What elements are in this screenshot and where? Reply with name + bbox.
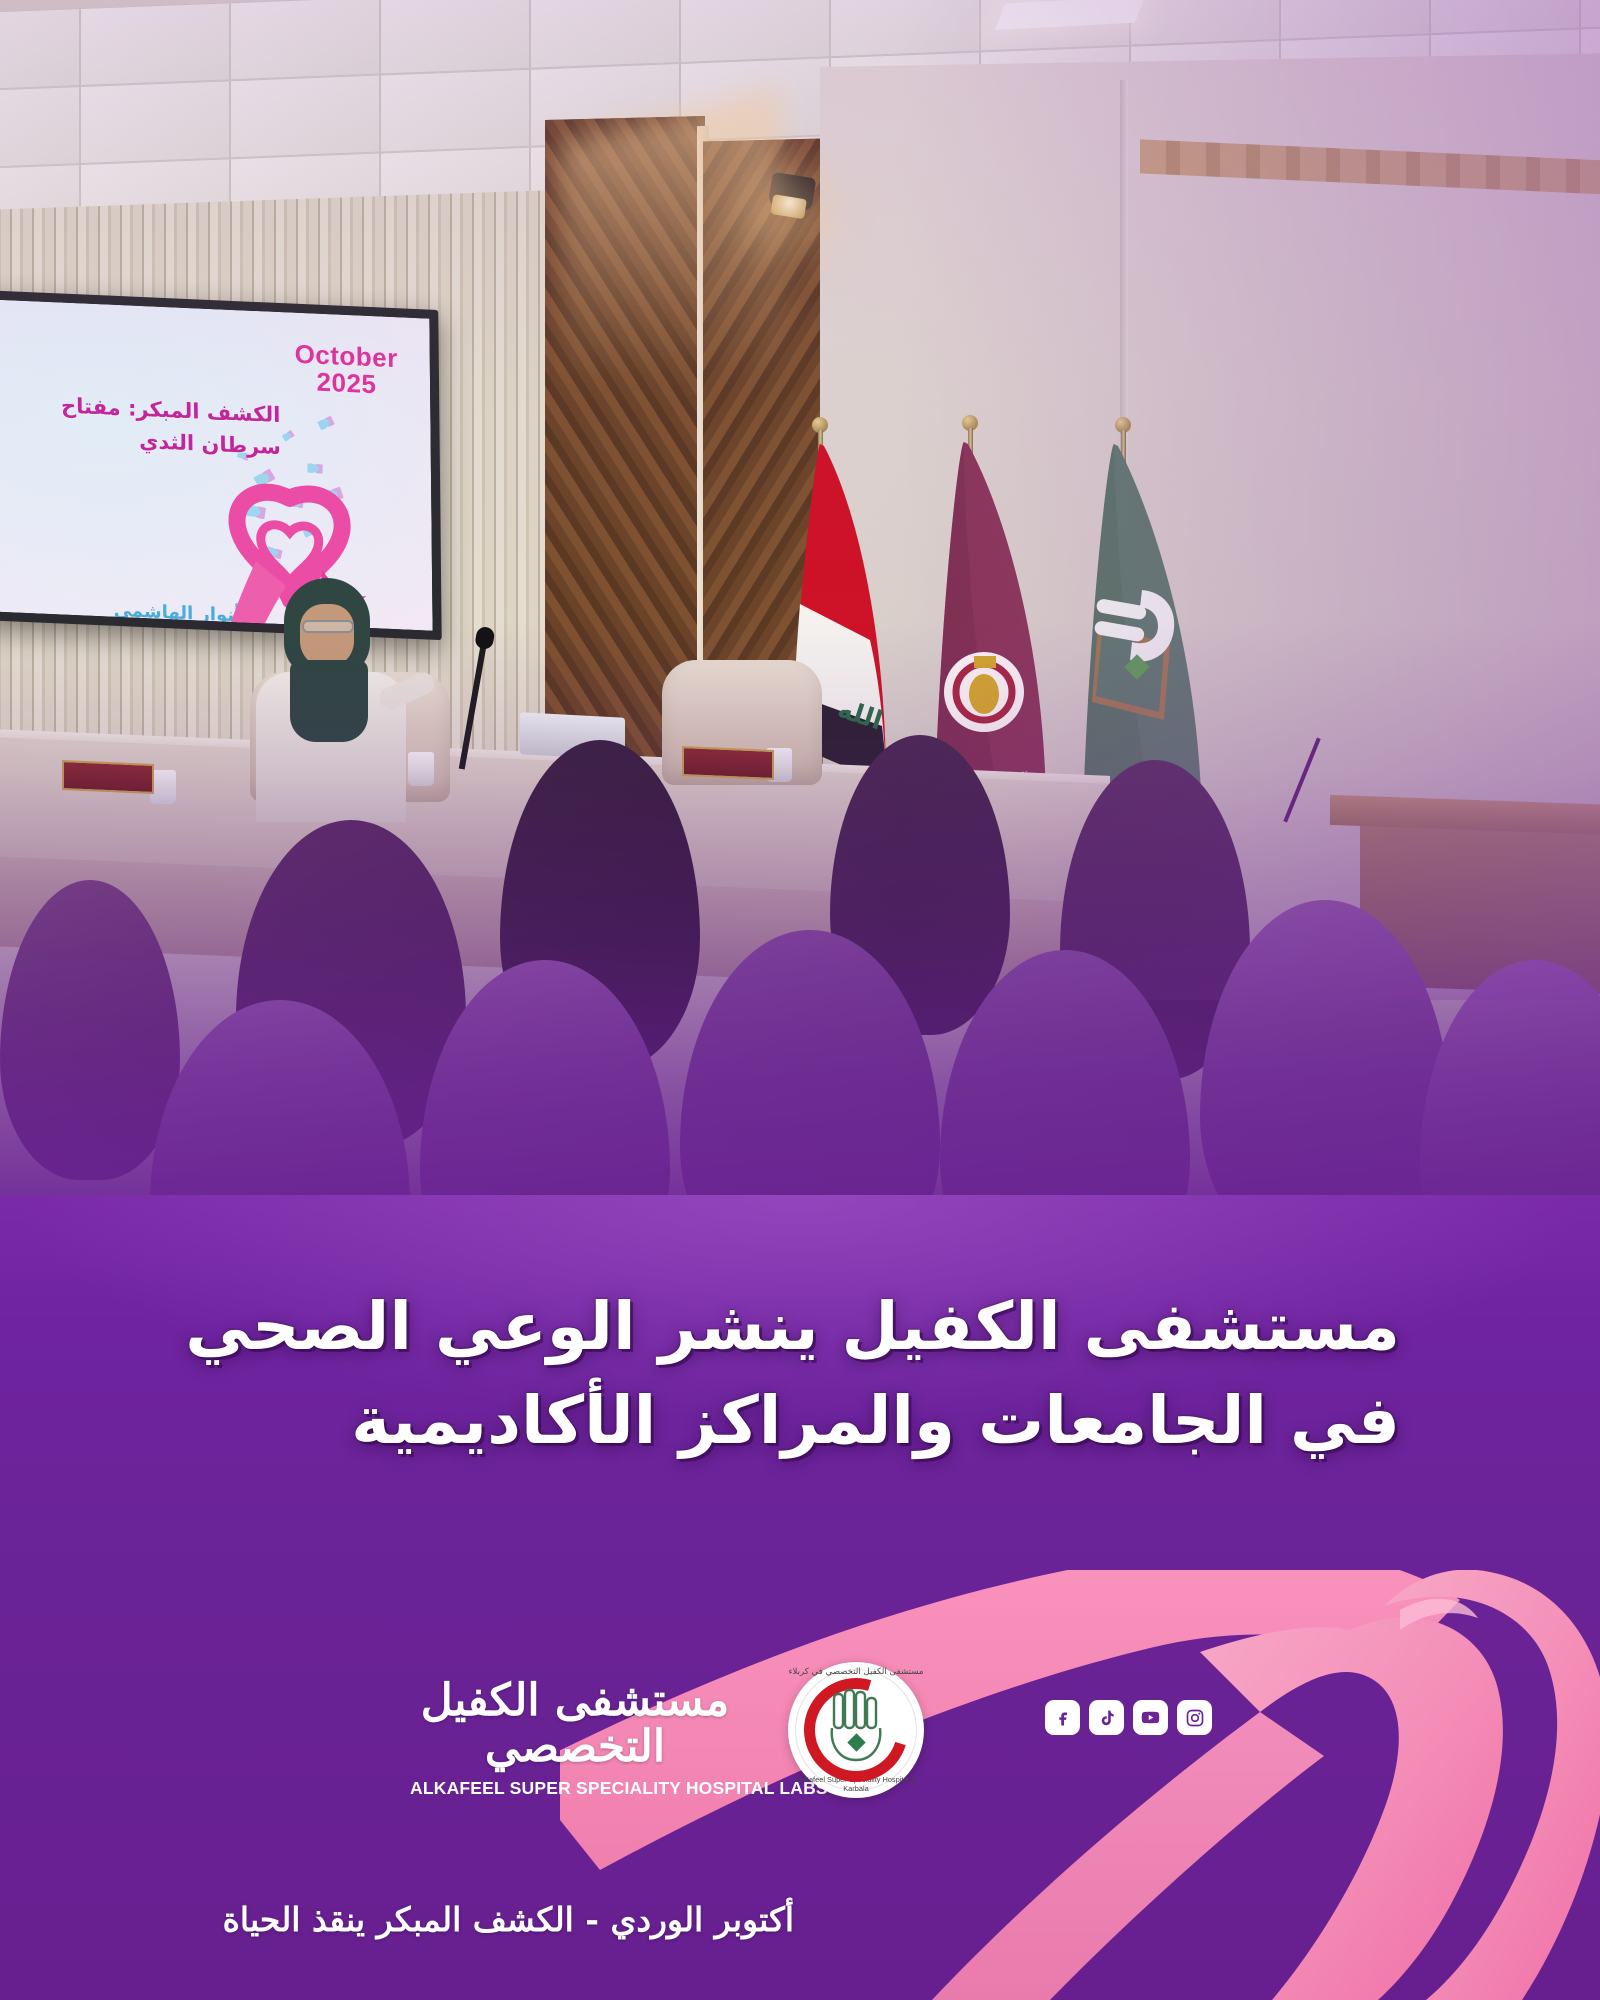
slide-title: الكشف المبكر: مفتاح سرطان الثدي	[0, 386, 281, 463]
butterfly-icon	[282, 430, 296, 443]
footer-tagline: أكتوبر الوردي - الكشف المبكر ينقذ الحياة	[34, 1900, 794, 1939]
slide-date: October 2025	[294, 341, 398, 399]
ceiling-tile	[1280, 0, 1430, 40]
tiktok-icon[interactable]	[1089, 1700, 1124, 1735]
logo-arabic-text: مستشفى الكفيل التخصصي في كربلاء	[788, 1667, 924, 1677]
speaker-face	[300, 604, 354, 668]
headline-line-2: في الجامعات والمراكز الأكاديمية	[60, 1374, 1400, 1468]
speaker-scarf-drape	[290, 660, 368, 742]
youtube-icon[interactable]	[1133, 1700, 1168, 1735]
water-glass	[408, 752, 434, 786]
instagram-icon[interactable]	[1177, 1700, 1212, 1735]
ceiling-tile	[80, 2, 230, 86]
brand-row: مستشفى الكفيل التخصصي ALKAFEEL SUPER SPE…	[430, 1660, 1220, 1830]
hospital-logo-badge: مستشفى الكفيل التخصصي في كربلاء Al-Kafee…	[788, 1662, 924, 1798]
name-plate	[62, 760, 154, 794]
speaker-eyeglasses	[302, 620, 354, 633]
name-plate	[682, 746, 774, 780]
ceiling-tile	[1130, 0, 1280, 46]
hospital-name-arabic: مستشفى الكفيل التخصصي	[410, 1678, 740, 1770]
ceiling-tile	[0, 8, 80, 92]
ceiling-tile	[680, 0, 830, 63]
ceiling-tile	[1580, 0, 1600, 28]
headline-line-1: مستشفى الكفيل ينشر الوعي الصحي	[60, 1280, 1400, 1374]
ceiling-tile	[380, 69, 530, 153]
facebook-icon[interactable]	[1045, 1700, 1080, 1735]
ceiling-tile	[230, 0, 380, 80]
hospital-wordmark: مستشفى الكفيل التخصصي ALKAFEEL SUPER SPE…	[410, 1678, 740, 1799]
social-media-links[interactable]	[1045, 1700, 1212, 1735]
ceiling-tile	[230, 75, 380, 159]
poster-root: October 2025 الكشف المبكر: مفتاح سرطان ا…	[0, 0, 1600, 2000]
ceiling-tile	[0, 86, 80, 170]
hospital-name-english: ALKAFEEL SUPER SPECIALITY HOSPITAL LABS	[410, 1778, 740, 1799]
speaker-person	[250, 560, 410, 820]
spotlight-fixture	[768, 172, 817, 212]
butterfly-icon	[317, 416, 336, 433]
event-photograph: October 2025 الكشف المبكر: مفتاح سرطان ا…	[0, 0, 1600, 1280]
ceiling-tile	[830, 0, 980, 57]
page-title: مستشفى الكفيل ينشر الوعي الصحي في الجامع…	[60, 1280, 1400, 1467]
ceiling-tile	[530, 0, 680, 69]
open-hand-icon	[824, 1688, 888, 1766]
ceiling-tile	[380, 0, 530, 75]
ceiling-tile	[80, 80, 230, 164]
